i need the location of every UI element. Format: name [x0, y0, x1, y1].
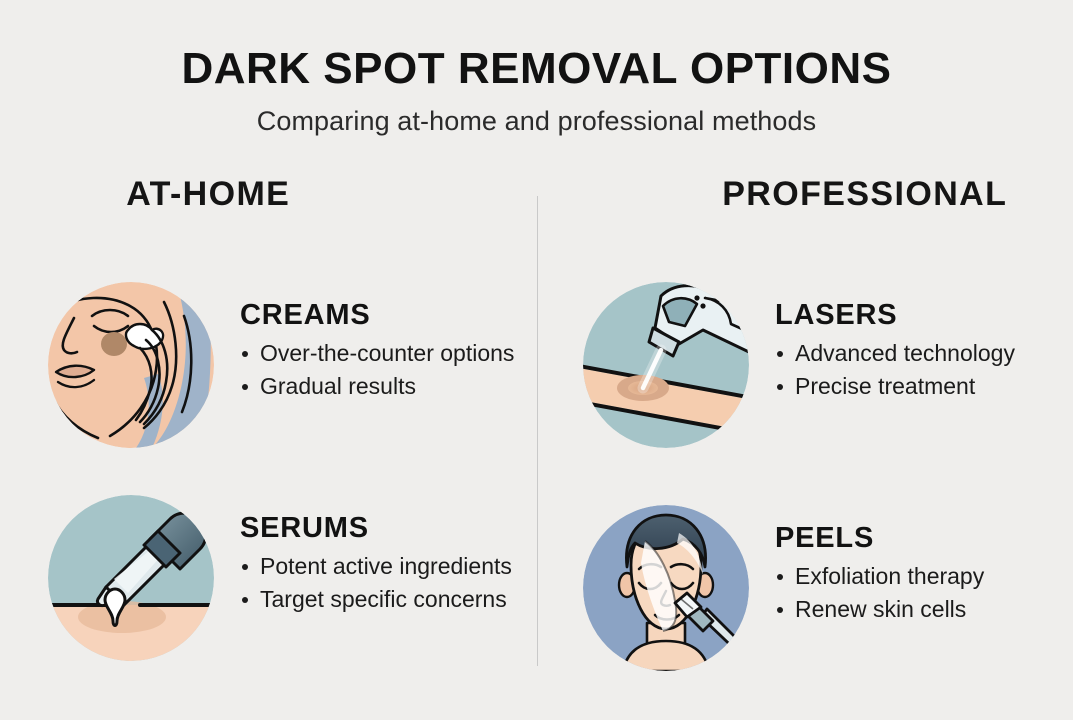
item-creams: CREAMS Over-the-counter options Gradual … [48, 282, 530, 448]
item-serums-text: SERUMS Potent active ingredients Target … [214, 495, 530, 617]
column-header-at-home: AT-HOME [0, 175, 587, 214]
item-serums: SERUMS Potent active ingredients Target … [48, 495, 530, 661]
column-divider [537, 196, 538, 666]
face-applying-cream-icon [48, 282, 214, 448]
item-creams-text: CREAMS Over-the-counter options Gradual … [214, 282, 530, 404]
face-peel-brush-icon [583, 505, 749, 671]
page-subtitle: Comparing at-home and professional metho… [0, 106, 1073, 137]
item-peels-text: PEELS Exfoliation therapy Renew skin cel… [749, 505, 1045, 627]
item-serums-bullets: Potent active ingredients Target specifi… [240, 551, 530, 615]
item-creams-bullets: Over-the-counter options Gradual results [240, 338, 530, 402]
list-item: Advanced technology [775, 338, 1045, 370]
list-item: Potent active ingredients [240, 551, 530, 583]
page-title: DARK SPOT REMOVAL OPTIONS [0, 46, 1073, 92]
laser-handpiece-icon [583, 282, 749, 448]
infographic-root: DARK SPOT REMOVAL OPTIONS Comparing at-h… [0, 0, 1073, 720]
list-item: Precise treatment [775, 371, 1045, 403]
item-lasers-bullets: Advanced technology Precise treatment [775, 338, 1045, 402]
item-peels-title: PEELS [775, 523, 1045, 553]
item-creams-title: CREAMS [240, 300, 530, 330]
item-peels: PEELS Exfoliation therapy Renew skin cel… [583, 505, 1045, 671]
list-item: Renew skin cells [775, 594, 1045, 626]
item-lasers: LASERS Advanced technology Precise treat… [583, 282, 1045, 448]
item-serums-title: SERUMS [240, 513, 530, 543]
item-lasers-title: LASERS [775, 300, 1045, 330]
list-item: Gradual results [240, 371, 530, 403]
header: DARK SPOT REMOVAL OPTIONS Comparing at-h… [0, 0, 1073, 137]
item-lasers-text: LASERS Advanced technology Precise treat… [749, 282, 1045, 404]
dropper-serum-icon [48, 495, 214, 661]
list-item: Target specific concerns [240, 584, 530, 616]
column-header-professional: PROFESSIONAL [587, 175, 1073, 214]
list-item: Exfoliation therapy [775, 561, 1045, 593]
item-peels-bullets: Exfoliation therapy Renew skin cells [775, 561, 1045, 625]
list-item: Over-the-counter options [240, 338, 530, 370]
